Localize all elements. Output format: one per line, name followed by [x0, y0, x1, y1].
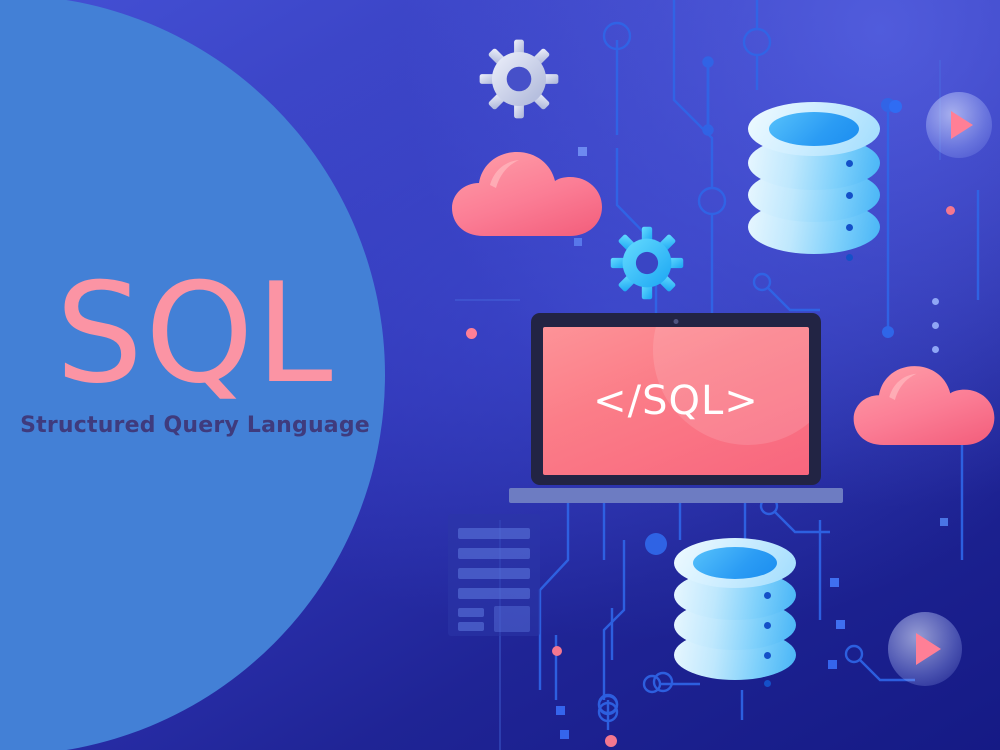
- decor-dot-blue: [889, 100, 902, 113]
- decor-square: [940, 518, 948, 526]
- decor-dot-pink: [466, 328, 477, 339]
- webcam-dot: [674, 319, 679, 324]
- play-button-icon[interactable]: [888, 612, 962, 686]
- decor-square: [830, 578, 839, 587]
- decor-dot-blue: [932, 298, 939, 305]
- decor-square: [828, 660, 837, 669]
- brand-block: SQL Structured Query Language: [0, 268, 390, 438]
- decor-dot-blue: [932, 322, 939, 329]
- page-subtitle: Structured Query Language: [0, 413, 390, 438]
- decor-square: [836, 620, 845, 629]
- decor-dot-pink: [552, 646, 562, 656]
- sql-poster: </SQL> SQL Structured Query Language: [0, 0, 1000, 750]
- play-button-icon[interactable]: [926, 92, 992, 158]
- gear-icon: [610, 226, 684, 300]
- database-cylinder: [674, 538, 796, 688]
- laptop-base: [509, 488, 843, 503]
- page-title: SQL: [0, 268, 390, 399]
- laptop-illustration: </SQL>: [531, 313, 821, 485]
- cloud-icon: [446, 148, 608, 243]
- gear-icon: [478, 38, 560, 120]
- sql-code-text: </SQL>: [593, 378, 759, 424]
- laptop-lid: </SQL>: [531, 313, 821, 485]
- decor-square: [556, 706, 565, 715]
- cloud-icon: [848, 362, 1000, 452]
- laptop-screen: </SQL>: [543, 327, 809, 475]
- decor-dot-pink: [946, 206, 955, 215]
- decor-dot-blue: [932, 346, 939, 353]
- decor-square: [560, 730, 569, 739]
- decor-dot-pink: [605, 735, 617, 747]
- document-icon: [440, 510, 550, 640]
- database-cylinder: [748, 102, 880, 260]
